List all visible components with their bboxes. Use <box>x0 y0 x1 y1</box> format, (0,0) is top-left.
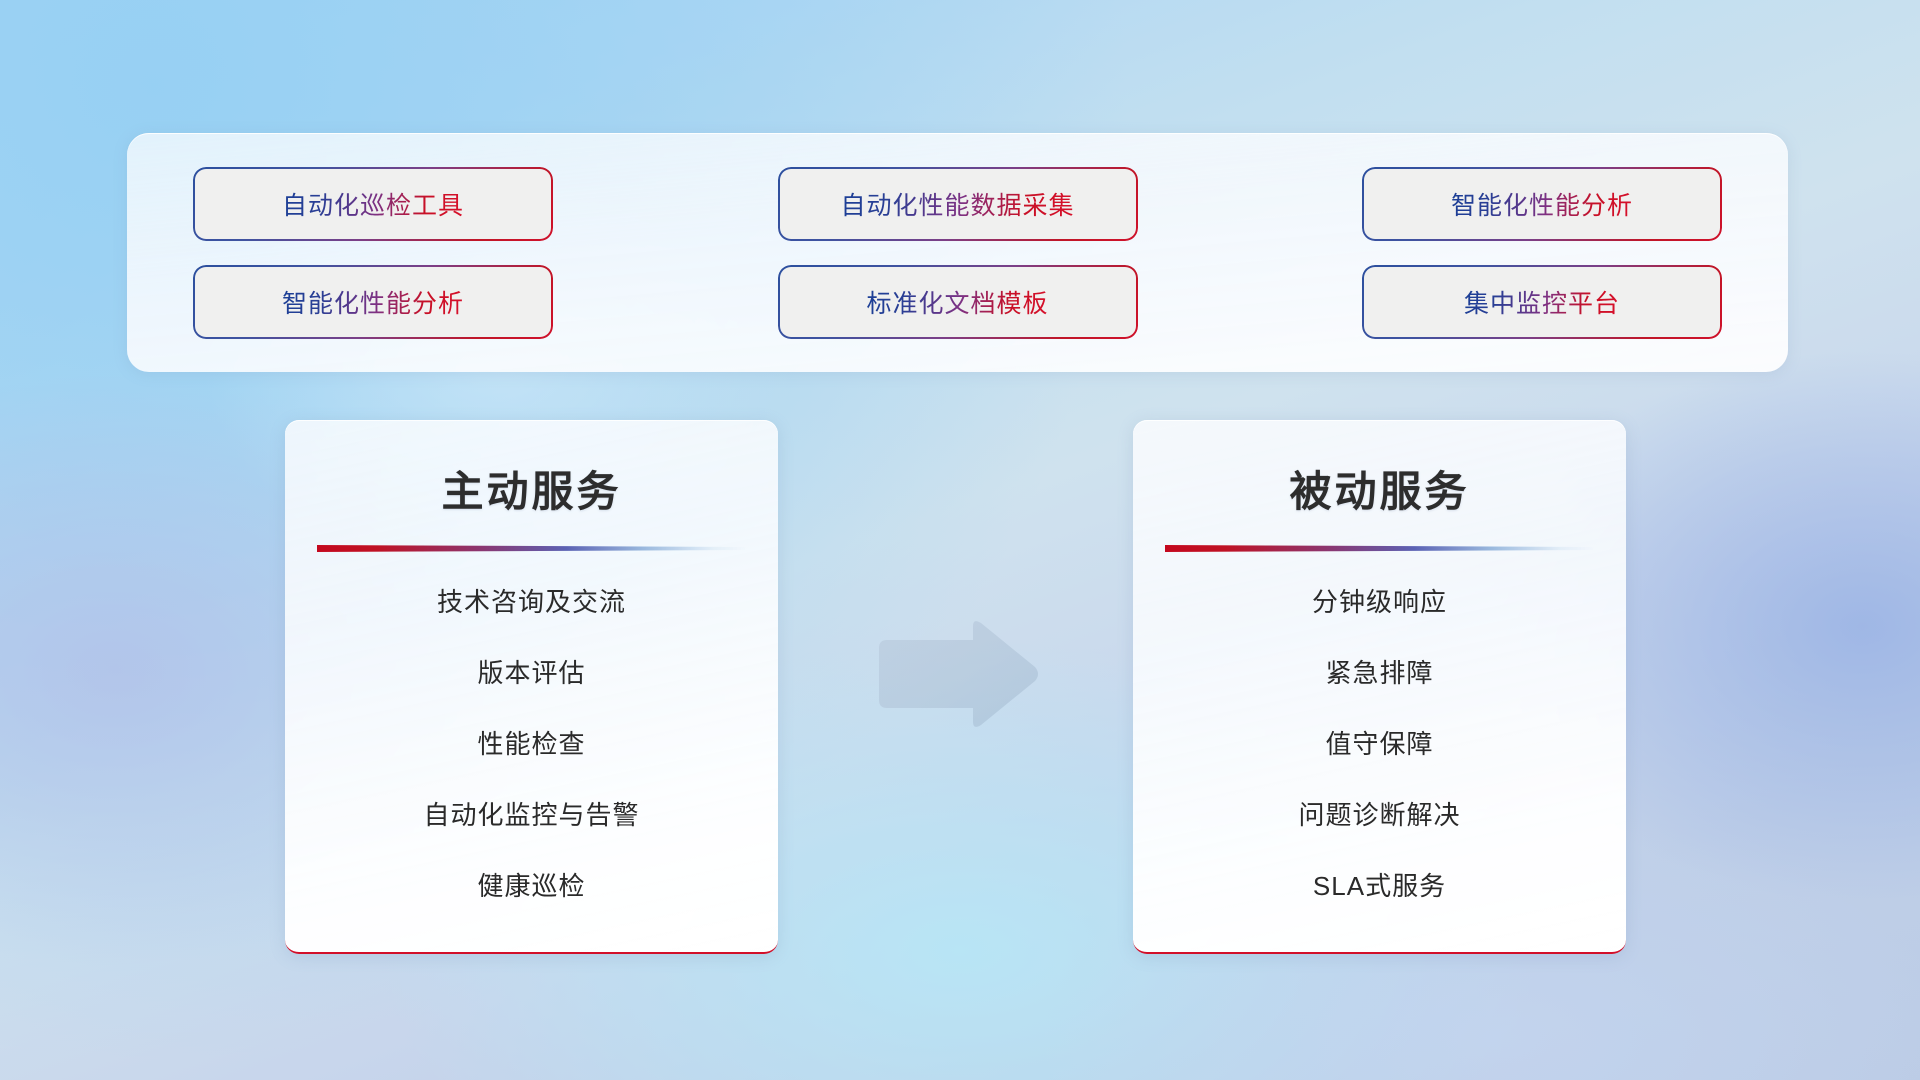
capability-pill-automated-inspection-tool[interactable]: 自动化巡检工具 <box>195 169 551 239</box>
capability-pill-label: 集中监控平台 <box>1464 284 1620 320</box>
list-item: 紧急排障 <box>1325 653 1433 690</box>
service-card-title: 主动服务 <box>441 458 621 519</box>
capability-pill-label: 智能化性能分析 <box>282 284 464 320</box>
capability-pill-intelligent-performance-analysis[interactable]: 智能化性能分析 <box>1364 169 1720 239</box>
capability-pill-label: 自动化性能数据采集 <box>840 186 1074 222</box>
title-gradient-divider <box>317 545 747 552</box>
capability-pill-label: 智能化性能分析 <box>1451 186 1633 222</box>
list-item: 自动化监控与告警 <box>423 795 639 832</box>
capability-pill-standardized-doc-template[interactable]: 标准化文档模板 <box>780 267 1136 337</box>
list-item: SLA式服务 <box>1313 866 1446 903</box>
title-gradient-divider <box>1165 545 1595 552</box>
capability-pill-centralized-monitoring-platform[interactable]: 集中监控平台 <box>1364 267 1720 337</box>
capability-pill-label: 标准化文档模板 <box>866 284 1048 320</box>
list-item: 分钟级响应 <box>1312 582 1447 619</box>
service-card-title: 被动服务 <box>1289 458 1469 519</box>
capabilities-row-2: 智能化性能分析 标准化文档模板 集中监控平台 <box>195 267 1720 337</box>
list-item: 性能检查 <box>477 724 585 761</box>
capability-pill-intelligent-performance-analysis-2[interactable]: 智能化性能分析 <box>195 267 551 337</box>
list-item: 版本评估 <box>477 653 585 690</box>
service-card-active: 主动服务 技术咨询及交流 版本评估 性能检查 自动化监控与告警 健康巡检 <box>285 420 778 954</box>
list-item: 问题诊断解决 <box>1298 795 1460 832</box>
service-card-passive: 被动服务 分钟级响应 紧急排障 值守保障 问题诊断解决 SLA式服务 <box>1133 420 1626 954</box>
list-item: 健康巡检 <box>477 866 585 903</box>
service-item-list: 技术咨询及交流 版本评估 性能检查 自动化监控与告警 健康巡检 <box>285 582 778 903</box>
capability-pill-automated-performance-data-collection[interactable]: 自动化性能数据采集 <box>780 169 1136 239</box>
capabilities-row-1: 自动化巡检工具 自动化性能数据采集 智能化性能分析 <box>195 169 1720 239</box>
list-item: 技术咨询及交流 <box>437 582 626 619</box>
list-item: 值守保障 <box>1325 724 1433 761</box>
right-arrow-icon <box>873 618 1041 730</box>
capabilities-panel: 自动化巡检工具 自动化性能数据采集 智能化性能分析 智能化性能分析 标准化文档模… <box>127 133 1788 372</box>
capability-pill-label: 自动化巡检工具 <box>282 186 464 222</box>
service-item-list: 分钟级响应 紧急排障 值守保障 问题诊断解决 SLA式服务 <box>1133 582 1626 903</box>
